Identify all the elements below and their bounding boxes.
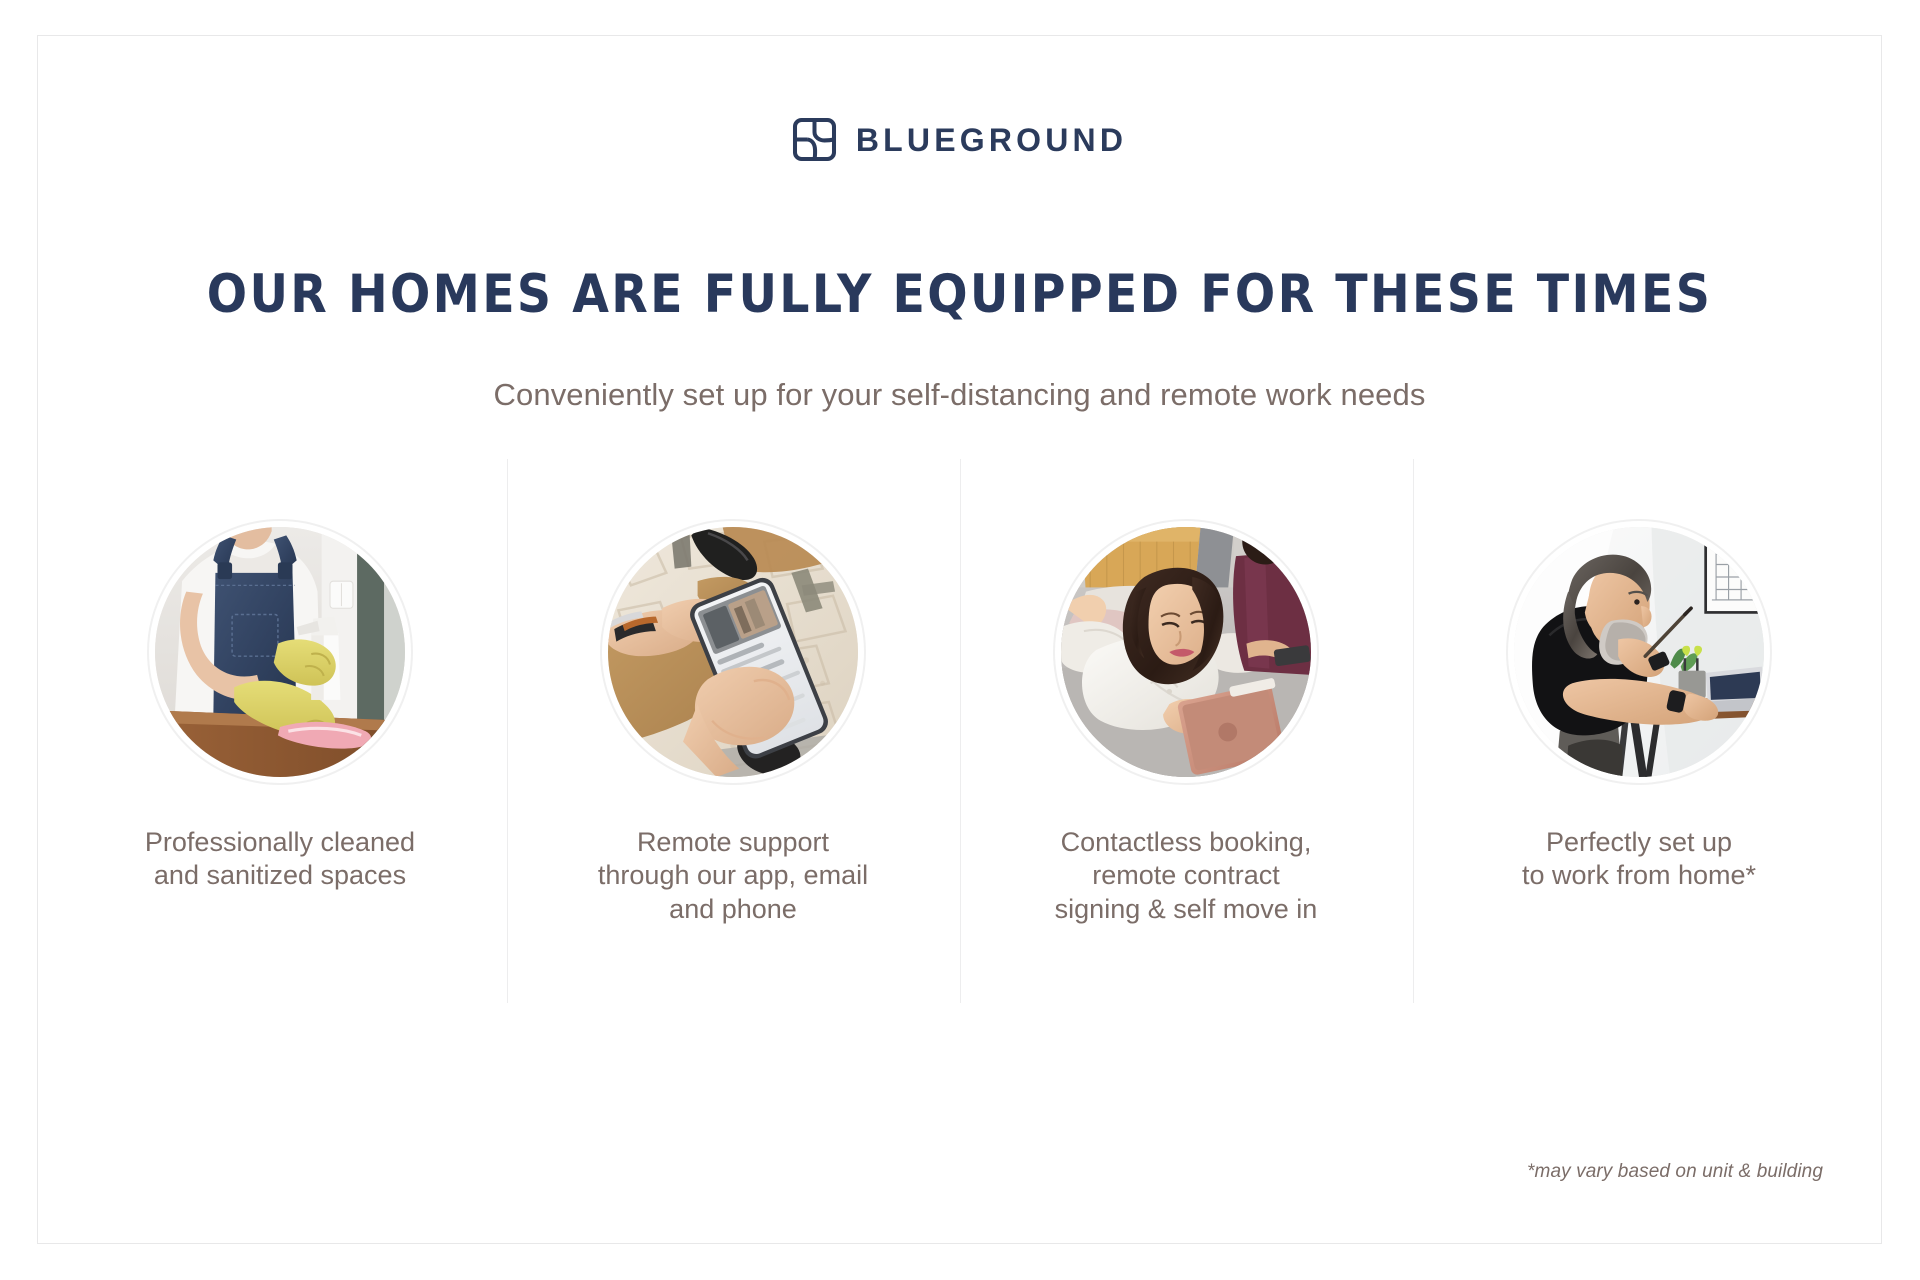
caption-line: Perfectly set up xyxy=(1546,827,1732,857)
feature-caption: Perfectly set up to work from home* xyxy=(1474,826,1804,893)
caption-line: Professionally cleaned xyxy=(145,827,415,857)
caption-line: and phone xyxy=(669,894,797,924)
photo-ring xyxy=(600,519,866,785)
page-title: OUR HOMES ARE FULLY EQUIPPED FOR THESE T… xyxy=(135,268,1784,321)
caption-line: signing & self move in xyxy=(1055,894,1318,924)
photo-ring xyxy=(147,519,413,785)
feature-item-contactless-booking: Contactless booking, remote contract sig… xyxy=(960,519,1413,1071)
photo-cleaning xyxy=(155,527,405,777)
photo-phone-app xyxy=(608,527,858,777)
feature-caption: Contactless booking, remote contract sig… xyxy=(1021,826,1351,926)
feature-list: Professionally cleaned and sanitized spa… xyxy=(38,519,1881,1071)
caption-line: remote contract xyxy=(1092,860,1280,890)
caption-line: and sanitized spaces xyxy=(154,860,406,890)
caption-line: to work from home* xyxy=(1522,860,1756,890)
feature-item-cleaning: Professionally cleaned and sanitized spa… xyxy=(54,519,507,1071)
blueground-square-mark-icon xyxy=(792,117,837,162)
brand-lockup: BLUEGROUND xyxy=(38,117,1881,162)
caption-line: through our app, email xyxy=(598,860,868,890)
caption-line: Remote support xyxy=(637,827,829,857)
photo-woman-tablet xyxy=(1061,527,1311,777)
caption-line: Contactless booking, xyxy=(1061,827,1312,857)
feature-caption: Professionally cleaned and sanitized spa… xyxy=(115,826,445,893)
poster-frame: BLUEGROUND OUR HOMES ARE FULLY EQUIPPED … xyxy=(37,35,1882,1244)
page-subtitle: Conveniently set up for your self-distan… xyxy=(38,376,1881,415)
footnote-disclaimer: *may vary based on unit & building xyxy=(1527,1161,1823,1183)
photo-man-desk-laptop xyxy=(1514,527,1764,777)
photo-ring xyxy=(1053,519,1319,785)
feature-item-remote-support: Remote support through our app, email an… xyxy=(507,519,960,1071)
photo-ring xyxy=(1506,519,1772,785)
feature-item-work-from-home: Perfectly set up to work from home* xyxy=(1413,519,1866,1071)
brand-name: BLUEGROUND xyxy=(856,124,1127,156)
feature-caption: Remote support through our app, email an… xyxy=(568,826,898,926)
